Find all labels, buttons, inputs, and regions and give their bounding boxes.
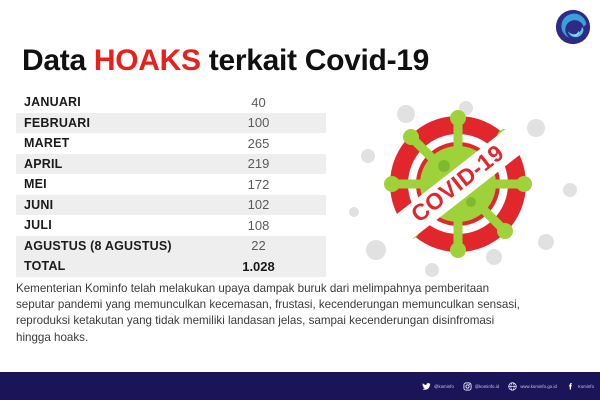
title-part-2: terkait Covid-19 bbox=[201, 44, 429, 77]
row-count: 219 bbox=[229, 156, 326, 171]
row-count: 102 bbox=[229, 197, 326, 212]
row-count: 1.028 bbox=[229, 259, 326, 274]
table-row-total: TOTAL 1.028 bbox=[16, 256, 326, 277]
instagram-icon bbox=[463, 382, 472, 391]
social-twitter[interactable]: @kominfo bbox=[422, 382, 454, 391]
covid-19-stop-sign: COVID-19 bbox=[340, 92, 590, 278]
table-row: MARET 265 bbox=[16, 133, 326, 154]
row-month: MARET bbox=[24, 136, 229, 150]
row-month: JUNI bbox=[24, 198, 229, 212]
slide-canvas: Data HOAKS terkait Covid-19 JANUARI 40 F… bbox=[0, 0, 600, 400]
kominfo-logo bbox=[554, 7, 592, 47]
table-row: MEI 172 bbox=[16, 174, 326, 195]
page-title: Data HOAKS terkait Covid-19 bbox=[22, 44, 429, 78]
facebook-icon bbox=[566, 382, 575, 391]
website-url: www.kominfo.go.id bbox=[520, 384, 557, 389]
row-month: FEBRUARI bbox=[24, 116, 229, 130]
row-month: JANUARI bbox=[24, 95, 229, 109]
social-website[interactable]: www.kominfo.go.id bbox=[508, 382, 557, 391]
row-count: 100 bbox=[229, 115, 326, 130]
title-part-1: Data bbox=[22, 44, 94, 77]
table-row: JUNI 102 bbox=[16, 195, 326, 216]
row-count: 22 bbox=[229, 238, 326, 253]
facebook-handle: Kominfo bbox=[578, 384, 594, 389]
hoax-data-table: JANUARI 40 FEBRUARI 100 MARET 265 APRIL … bbox=[16, 92, 326, 277]
title-highlight: HOAKS bbox=[94, 44, 201, 77]
row-count: 40 bbox=[229, 95, 326, 110]
row-count: 265 bbox=[229, 136, 326, 151]
row-month: MEI bbox=[24, 177, 229, 191]
table-row: JANUARI 40 bbox=[16, 92, 326, 113]
row-month: APRIL bbox=[24, 157, 229, 171]
social-facebook[interactable]: Kominfo bbox=[566, 382, 594, 391]
twitter-icon bbox=[422, 382, 431, 391]
row-count: 172 bbox=[229, 177, 326, 192]
table-row: AGUSTUS (8 AGUSTUS) 22 bbox=[16, 236, 326, 257]
table-row: APRIL 219 bbox=[16, 154, 326, 175]
row-month: AGUSTUS (8 AGUSTUS) bbox=[24, 239, 229, 253]
social-instagram[interactable]: @kominfo.id bbox=[463, 382, 499, 391]
table-row: JULI 108 bbox=[16, 215, 326, 236]
twitter-handle: @kominfo bbox=[434, 384, 454, 389]
instagram-handle: @kominfo.id bbox=[475, 384, 499, 389]
table-row: FEBRUARI 100 bbox=[16, 113, 326, 134]
globe-icon bbox=[508, 382, 517, 391]
row-month: TOTAL bbox=[24, 259, 229, 273]
row-month: JULI bbox=[24, 218, 229, 232]
footer-bar: @kominfo @kominfo.id www.kominfo.go.id K… bbox=[0, 372, 600, 400]
description-paragraph: Kementerian Kominfo telah melakukan upay… bbox=[16, 281, 521, 346]
row-count: 108 bbox=[229, 218, 326, 233]
